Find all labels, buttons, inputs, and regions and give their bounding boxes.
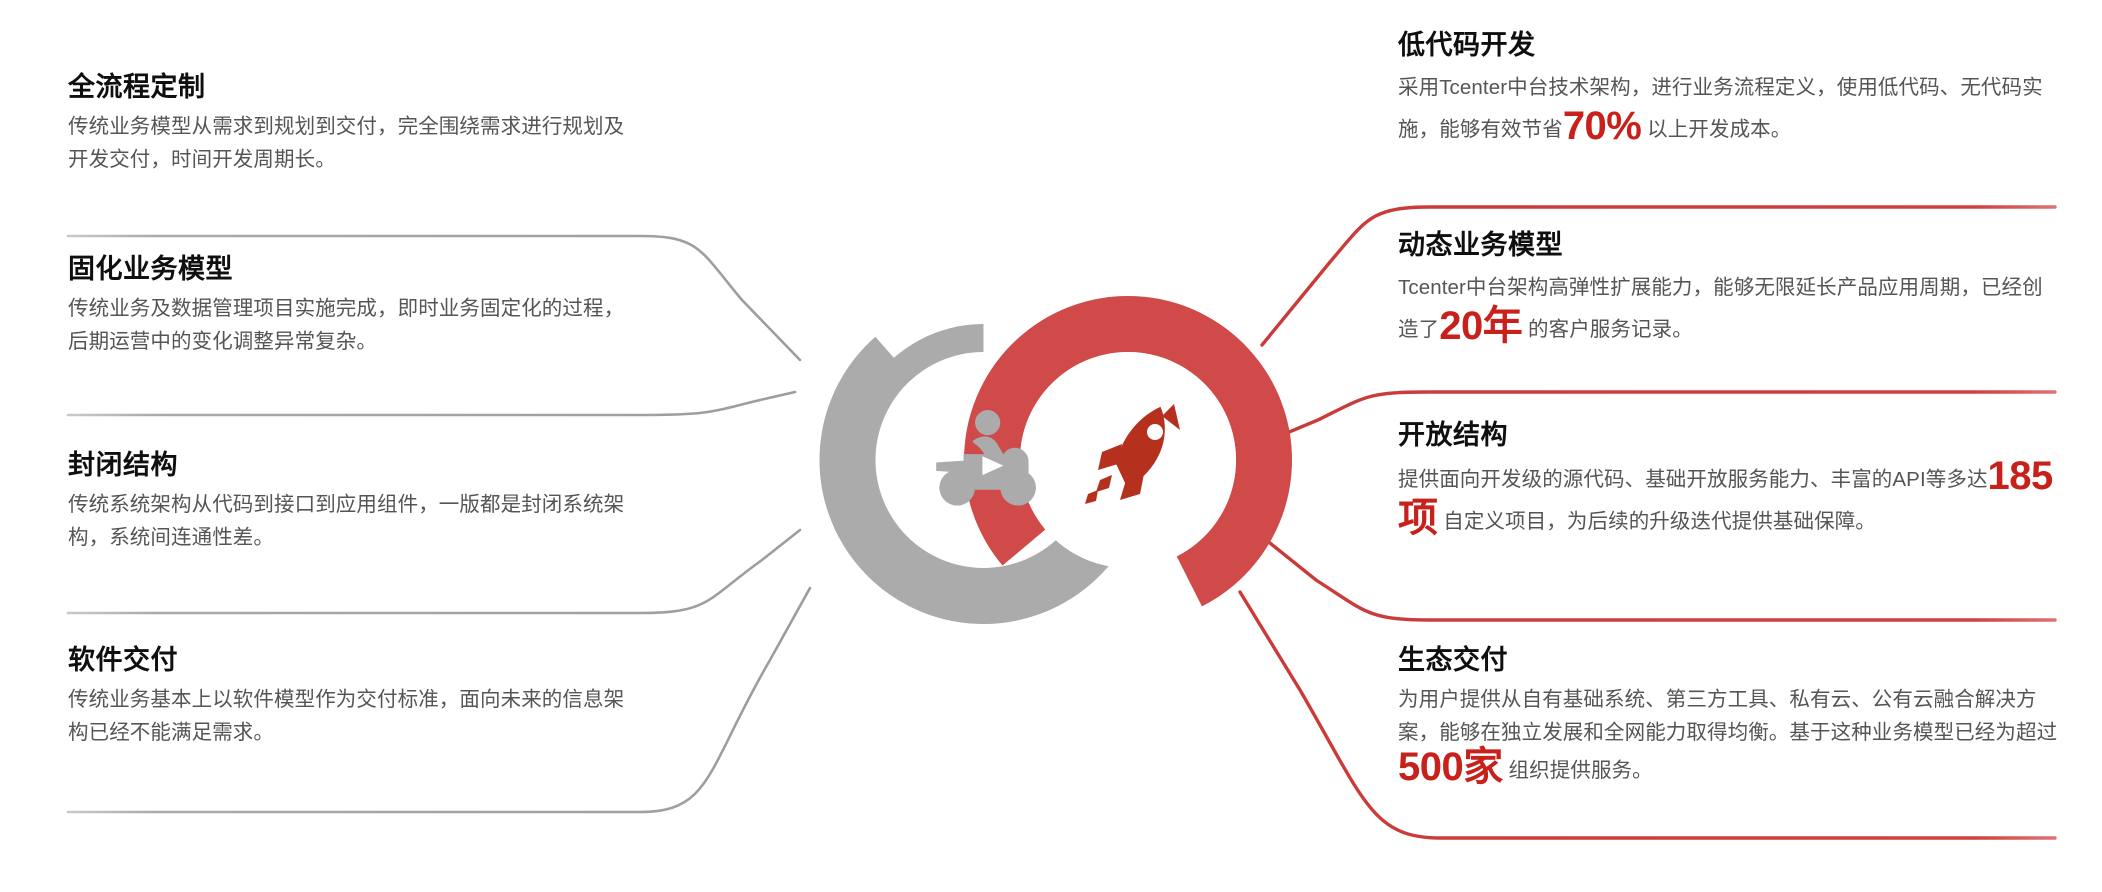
- left-connector-2: [68, 392, 795, 415]
- panel-body-post: 组织提供服务。: [1509, 759, 1653, 782]
- panel-body: 传统业务模型从需求到规划到交付，完全围绕需求进行规划及开发交付，时间开发周期长。: [68, 110, 628, 176]
- center-dual-ring-graphic: [700, 270, 1320, 650]
- panel-left-3: 封闭结构 传统系统架构从代码到接口到应用组件，一版都是封闭系统架构，系统间连通性…: [68, 450, 628, 554]
- panel-right-1: 低代码开发 采用Tcenter中台技术架构，进行业务流程定义，使用低代码、无代码…: [1398, 30, 2063, 150]
- panel-body: 传统业务基本上以软件模型作为交付标准，面向未来的信息架构已经不能满足需求。: [68, 683, 628, 749]
- panel-title: 软件交付: [68, 645, 628, 676]
- panel-body: 传统业务及数据管理项目实施完成，即时业务固定化的过程，后期运营中的变化调整异常复…: [68, 292, 628, 358]
- panel-right-2: 动态业务模型 Tcenter中台架构高弹性扩展能力，能够无限延长产品应用周期，已…: [1398, 230, 2063, 350]
- panel-body-pre: 为用户提供从自有基础系统、第三方工具、私有云、公有云融合解决方案，能够在独立发展…: [1398, 688, 2057, 744]
- highlight-number: 500家: [1398, 745, 1503, 789]
- panel-left-2: 固化业务模型 传统业务及数据管理项目实施完成，即时业务固定化的过程，后期运营中的…: [68, 254, 628, 358]
- panel-title: 开放结构: [1398, 420, 2063, 451]
- panel-title: 低代码开发: [1398, 30, 2063, 61]
- panel-title: 固化业务模型: [68, 254, 628, 285]
- panel-body: 采用Tcenter中台技术架构，进行业务流程定义，使用低代码、无代码实施，能够有…: [1398, 68, 2063, 150]
- panel-body: 传统系统架构从代码到接口到应用组件，一版都是封闭系统架构，系统间连通性差。: [68, 488, 628, 554]
- panel-body: 提供面向开发级的源代码、基础开放服务能力、丰富的API等多达185项 自定义项目…: [1398, 458, 2063, 542]
- panel-body-post: 自定义项目，为后续的升级迭代提供基础保障。: [1443, 510, 1876, 533]
- panel-right-4: 生态交付 为用户提供从自有基础系统、第三方工具、私有云、公有云融合解决方案，能够…: [1398, 645, 2063, 788]
- panel-body-pre: 提供面向开发级的源代码、基础开放服务能力、丰富的API等多达: [1398, 468, 1988, 491]
- panel-body: 为用户提供从自有基础系统、第三方工具、私有云、公有云融合解决方案，能够在独立发展…: [1398, 683, 2063, 788]
- panel-title: 生态交付: [1398, 645, 2063, 676]
- panel-right-3: 开放结构 提供面向开发级的源代码、基础开放服务能力、丰富的API等多达185项 …: [1398, 420, 2063, 542]
- panel-body-post: 的客户服务记录。: [1528, 318, 1693, 341]
- highlight-number: 20年: [1439, 304, 1522, 348]
- panel-left-1: 全流程定制 传统业务模型从需求到规划到交付，完全围绕需求进行规划及开发交付，时间…: [68, 72, 628, 176]
- panel-title: 封闭结构: [68, 450, 628, 481]
- panel-body: Tcenter中台架构高弹性扩展能力，能够无限延长产品应用周期，已经创造了20年…: [1398, 268, 2063, 350]
- infographic-root: 全流程定制 传统业务模型从需求到规划到交付，完全围绕需求进行规划及开发交付，时间…: [0, 0, 2102, 892]
- panel-title: 全流程定制: [68, 72, 628, 103]
- highlight-number: 70%: [1563, 104, 1642, 148]
- panel-body-post: 以上开发成本。: [1647, 118, 1791, 141]
- panel-left-4: 软件交付 传统业务基本上以软件模型作为交付标准，面向未来的信息架构已经不能满足需…: [68, 645, 628, 749]
- panel-title: 动态业务模型: [1398, 230, 2063, 261]
